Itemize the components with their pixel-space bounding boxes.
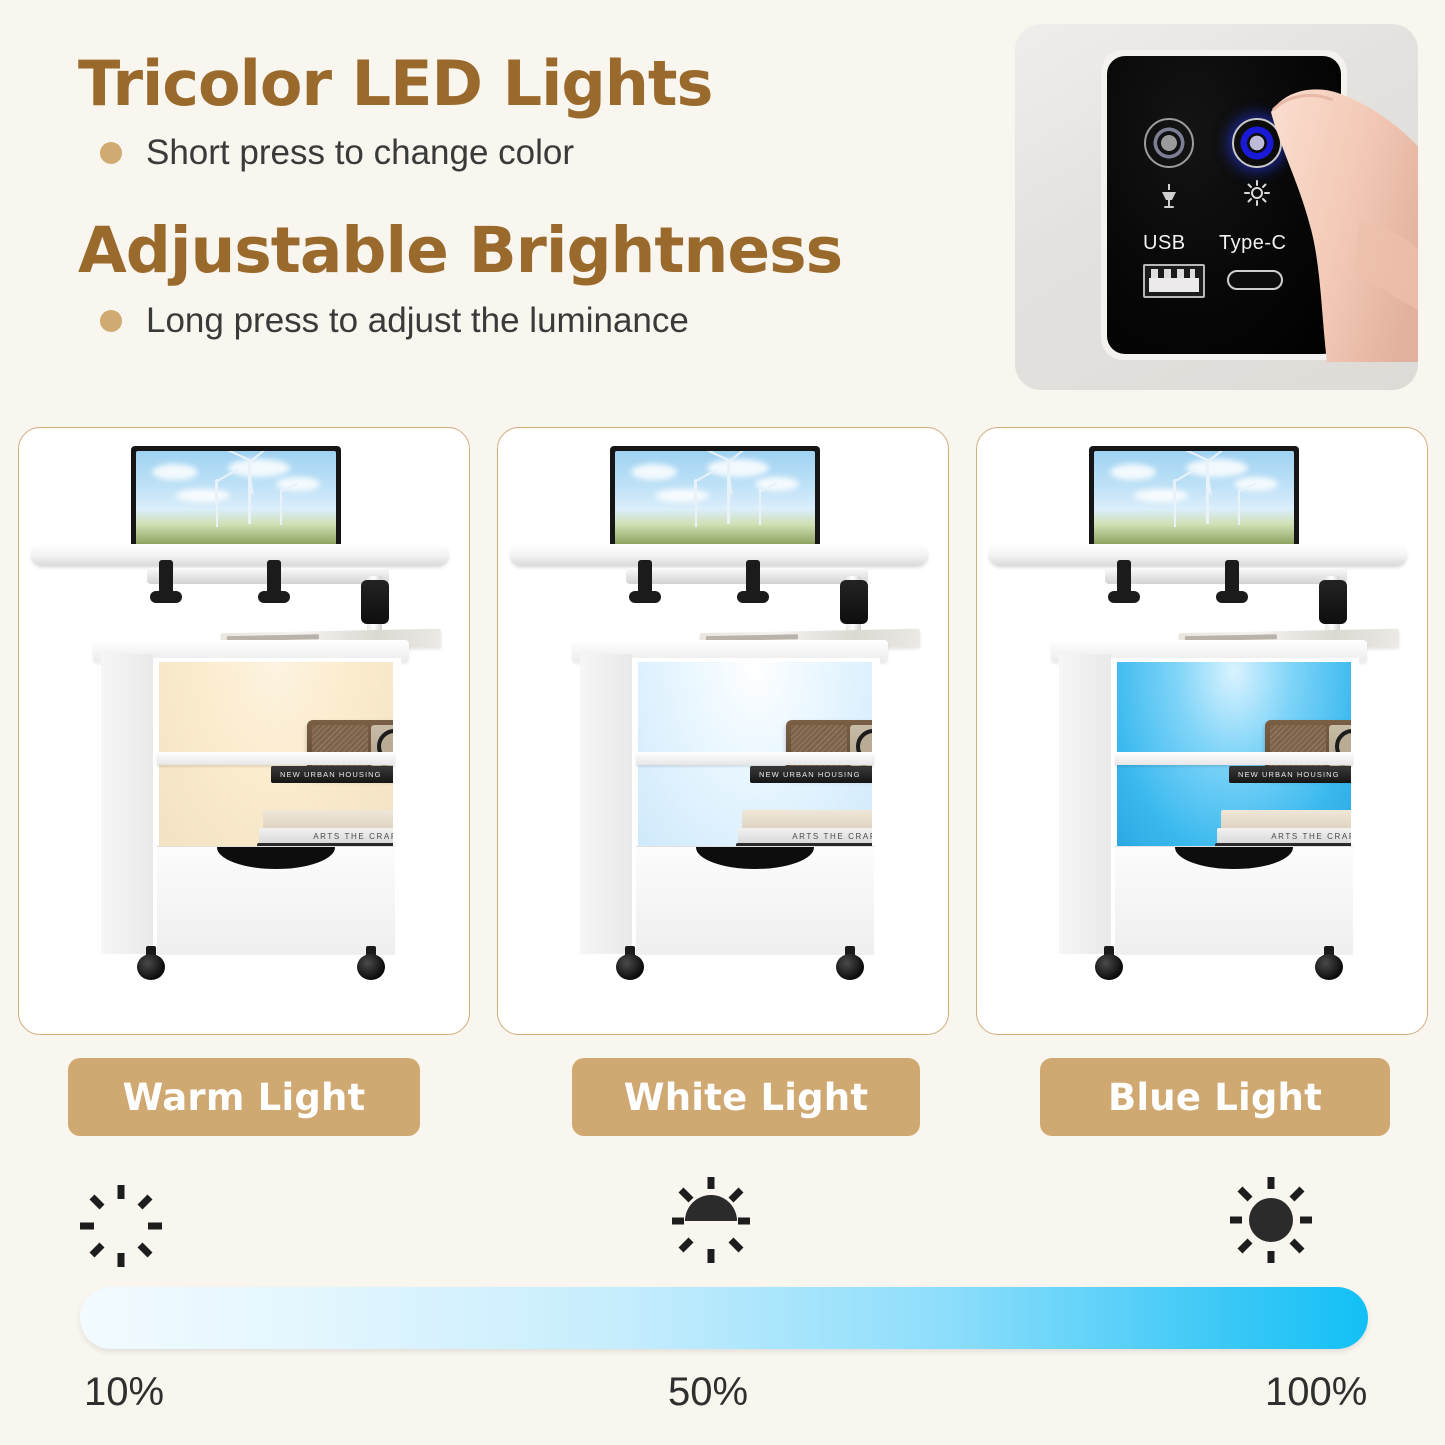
cabinet-drawer[interactable] bbox=[636, 846, 874, 955]
brightness-icon bbox=[1240, 178, 1274, 208]
caster-wheel-right bbox=[836, 946, 864, 980]
cabinet-drawer[interactable] bbox=[157, 846, 395, 955]
control-panel-photo: USB Type-C bbox=[1015, 24, 1418, 390]
cabinet-shelf bbox=[636, 752, 874, 765]
brightness-tick-100: 100% bbox=[1265, 1370, 1367, 1415]
book-new-urban-housing: NEW URBAN HOUSING LUXURY HOUSE bbox=[1229, 766, 1351, 783]
table-clamp-right bbox=[267, 560, 281, 596]
book-arts-crafts-gray: ARTS THE CRAFTS bbox=[1217, 828, 1351, 844]
cabinet-side-panel bbox=[580, 654, 632, 954]
usb-a-port bbox=[1143, 264, 1205, 298]
height-adjust-clamp bbox=[840, 580, 868, 624]
table-clamp-left bbox=[159, 560, 173, 596]
overbed-table-top bbox=[510, 544, 928, 566]
book-arts-crafts-gray: ARTS THE CRAFTS bbox=[738, 828, 872, 844]
caster-wheel-left bbox=[137, 946, 165, 980]
bullet-dot-icon bbox=[100, 310, 122, 332]
cabinet-side-panel bbox=[1059, 654, 1111, 954]
overbed-table-top bbox=[31, 544, 449, 566]
nightstand-scene: NEW URBAN HOUSING LUXURY HOUSE ARTS THE … bbox=[498, 428, 948, 1034]
label-white-light: White Light bbox=[572, 1058, 920, 1136]
light-power-button[interactable] bbox=[1144, 118, 1194, 168]
book-arts-crafts-gray: ARTS THE CRAFTS bbox=[259, 828, 393, 844]
nightstand-cabinet: NEW URBAN HOUSING LUXURY HOUSE ARTS THE … bbox=[1059, 640, 1359, 970]
book-cream bbox=[1221, 810, 1351, 830]
panel-touch-surface: USB Type-C bbox=[1107, 56, 1341, 354]
drawer-handle[interactable] bbox=[1175, 847, 1293, 869]
laptop-lid bbox=[610, 446, 820, 550]
cabinet-drawer[interactable] bbox=[1115, 846, 1353, 955]
brightness-slider[interactable] bbox=[80, 1287, 1368, 1349]
drawer-handle[interactable] bbox=[696, 847, 814, 869]
cabinet-shelf bbox=[157, 752, 395, 765]
brightness-button[interactable] bbox=[1232, 118, 1282, 168]
height-adjust-clamp bbox=[1319, 580, 1347, 624]
laptop-lid bbox=[131, 446, 341, 550]
sun-full-icon bbox=[1228, 1177, 1314, 1263]
header-text-block: Tricolor LED Lights Short press to chang… bbox=[78, 52, 958, 341]
sun-half-icon bbox=[668, 1177, 754, 1263]
laptop-screen bbox=[136, 451, 336, 545]
book-new-urban-housing: NEW URBAN HOUSING LUXURY HOUSE bbox=[271, 766, 393, 783]
laptop-screen bbox=[1094, 451, 1294, 545]
book-new-urban-housing: NEW URBAN HOUSING LUXURY HOUSE bbox=[750, 766, 872, 783]
table-clamp-left bbox=[638, 560, 652, 596]
laptop-lid bbox=[1089, 446, 1299, 550]
cabinet-shelf bbox=[1115, 752, 1353, 765]
caster-wheel-right bbox=[357, 946, 385, 980]
nightstand-scene: NEW URBAN HOUSING LUXURY HOUSE ARTS THE … bbox=[977, 428, 1427, 1034]
table-clamp-left bbox=[1117, 560, 1131, 596]
label-blue-light: Blue Light bbox=[1040, 1058, 1390, 1136]
light-mode-labels: Warm Light White Light Blue Light bbox=[18, 1058, 1428, 1138]
bullet-dot-icon bbox=[100, 142, 122, 164]
overbed-table-top bbox=[989, 544, 1407, 566]
table-clamp-right bbox=[746, 560, 760, 596]
nightstand-cabinet: NEW URBAN HOUSING LUXURY HOUSE ARTS THE … bbox=[580, 640, 880, 970]
height-adjust-clamp bbox=[361, 580, 389, 624]
cabinet-side-panel bbox=[101, 654, 153, 954]
drawer-handle[interactable] bbox=[217, 847, 335, 869]
bullet-long-press-label: Long press to adjust the luminance bbox=[146, 301, 689, 341]
caster-wheel-left bbox=[1095, 946, 1123, 980]
bullet-long-press: Long press to adjust the luminance bbox=[78, 301, 958, 341]
sun-empty-icon bbox=[78, 1183, 164, 1269]
brightness-tick-50: 50% bbox=[668, 1370, 748, 1415]
caster-wheel-right bbox=[1315, 946, 1343, 980]
bullet-short-press-label: Short press to change color bbox=[146, 133, 574, 173]
bullet-short-press: Short press to change color bbox=[78, 133, 958, 173]
page-title-brightness: Adjustable Brightness bbox=[78, 219, 958, 283]
product-card-blue-light[interactable]: NEW URBAN HOUSING LUXURY HOUSE ARTS THE … bbox=[976, 427, 1428, 1035]
nightstand-cabinet: NEW URBAN HOUSING LUXURY HOUSE ARTS THE … bbox=[101, 640, 401, 970]
caster-wheel-left bbox=[616, 946, 644, 980]
usb-c-port bbox=[1227, 270, 1283, 290]
page-title-tricolor: Tricolor LED Lights bbox=[78, 52, 958, 115]
brightness-tick-10: 10% bbox=[84, 1370, 164, 1415]
table-clamp-right bbox=[1225, 560, 1239, 596]
product-cards-row: NEW URBAN HOUSING LUXURY HOUSE ARTS THE … bbox=[18, 427, 1428, 1035]
lamp-icon bbox=[1152, 180, 1186, 210]
book-cream bbox=[263, 810, 393, 830]
typec-port-label: Type-C bbox=[1219, 232, 1286, 255]
nightstand-scene: NEW URBAN HOUSING LUXURY HOUSE ARTS THE … bbox=[19, 428, 469, 1034]
label-warm-light: Warm Light bbox=[68, 1058, 420, 1136]
product-card-white-light[interactable]: NEW URBAN HOUSING LUXURY HOUSE ARTS THE … bbox=[497, 427, 949, 1035]
book-cream bbox=[742, 810, 872, 830]
usb-port-label: USB bbox=[1143, 232, 1186, 255]
laptop-screen bbox=[615, 451, 815, 545]
product-card-warm-light[interactable]: NEW URBAN HOUSING LUXURY HOUSE ARTS THE … bbox=[18, 427, 470, 1035]
